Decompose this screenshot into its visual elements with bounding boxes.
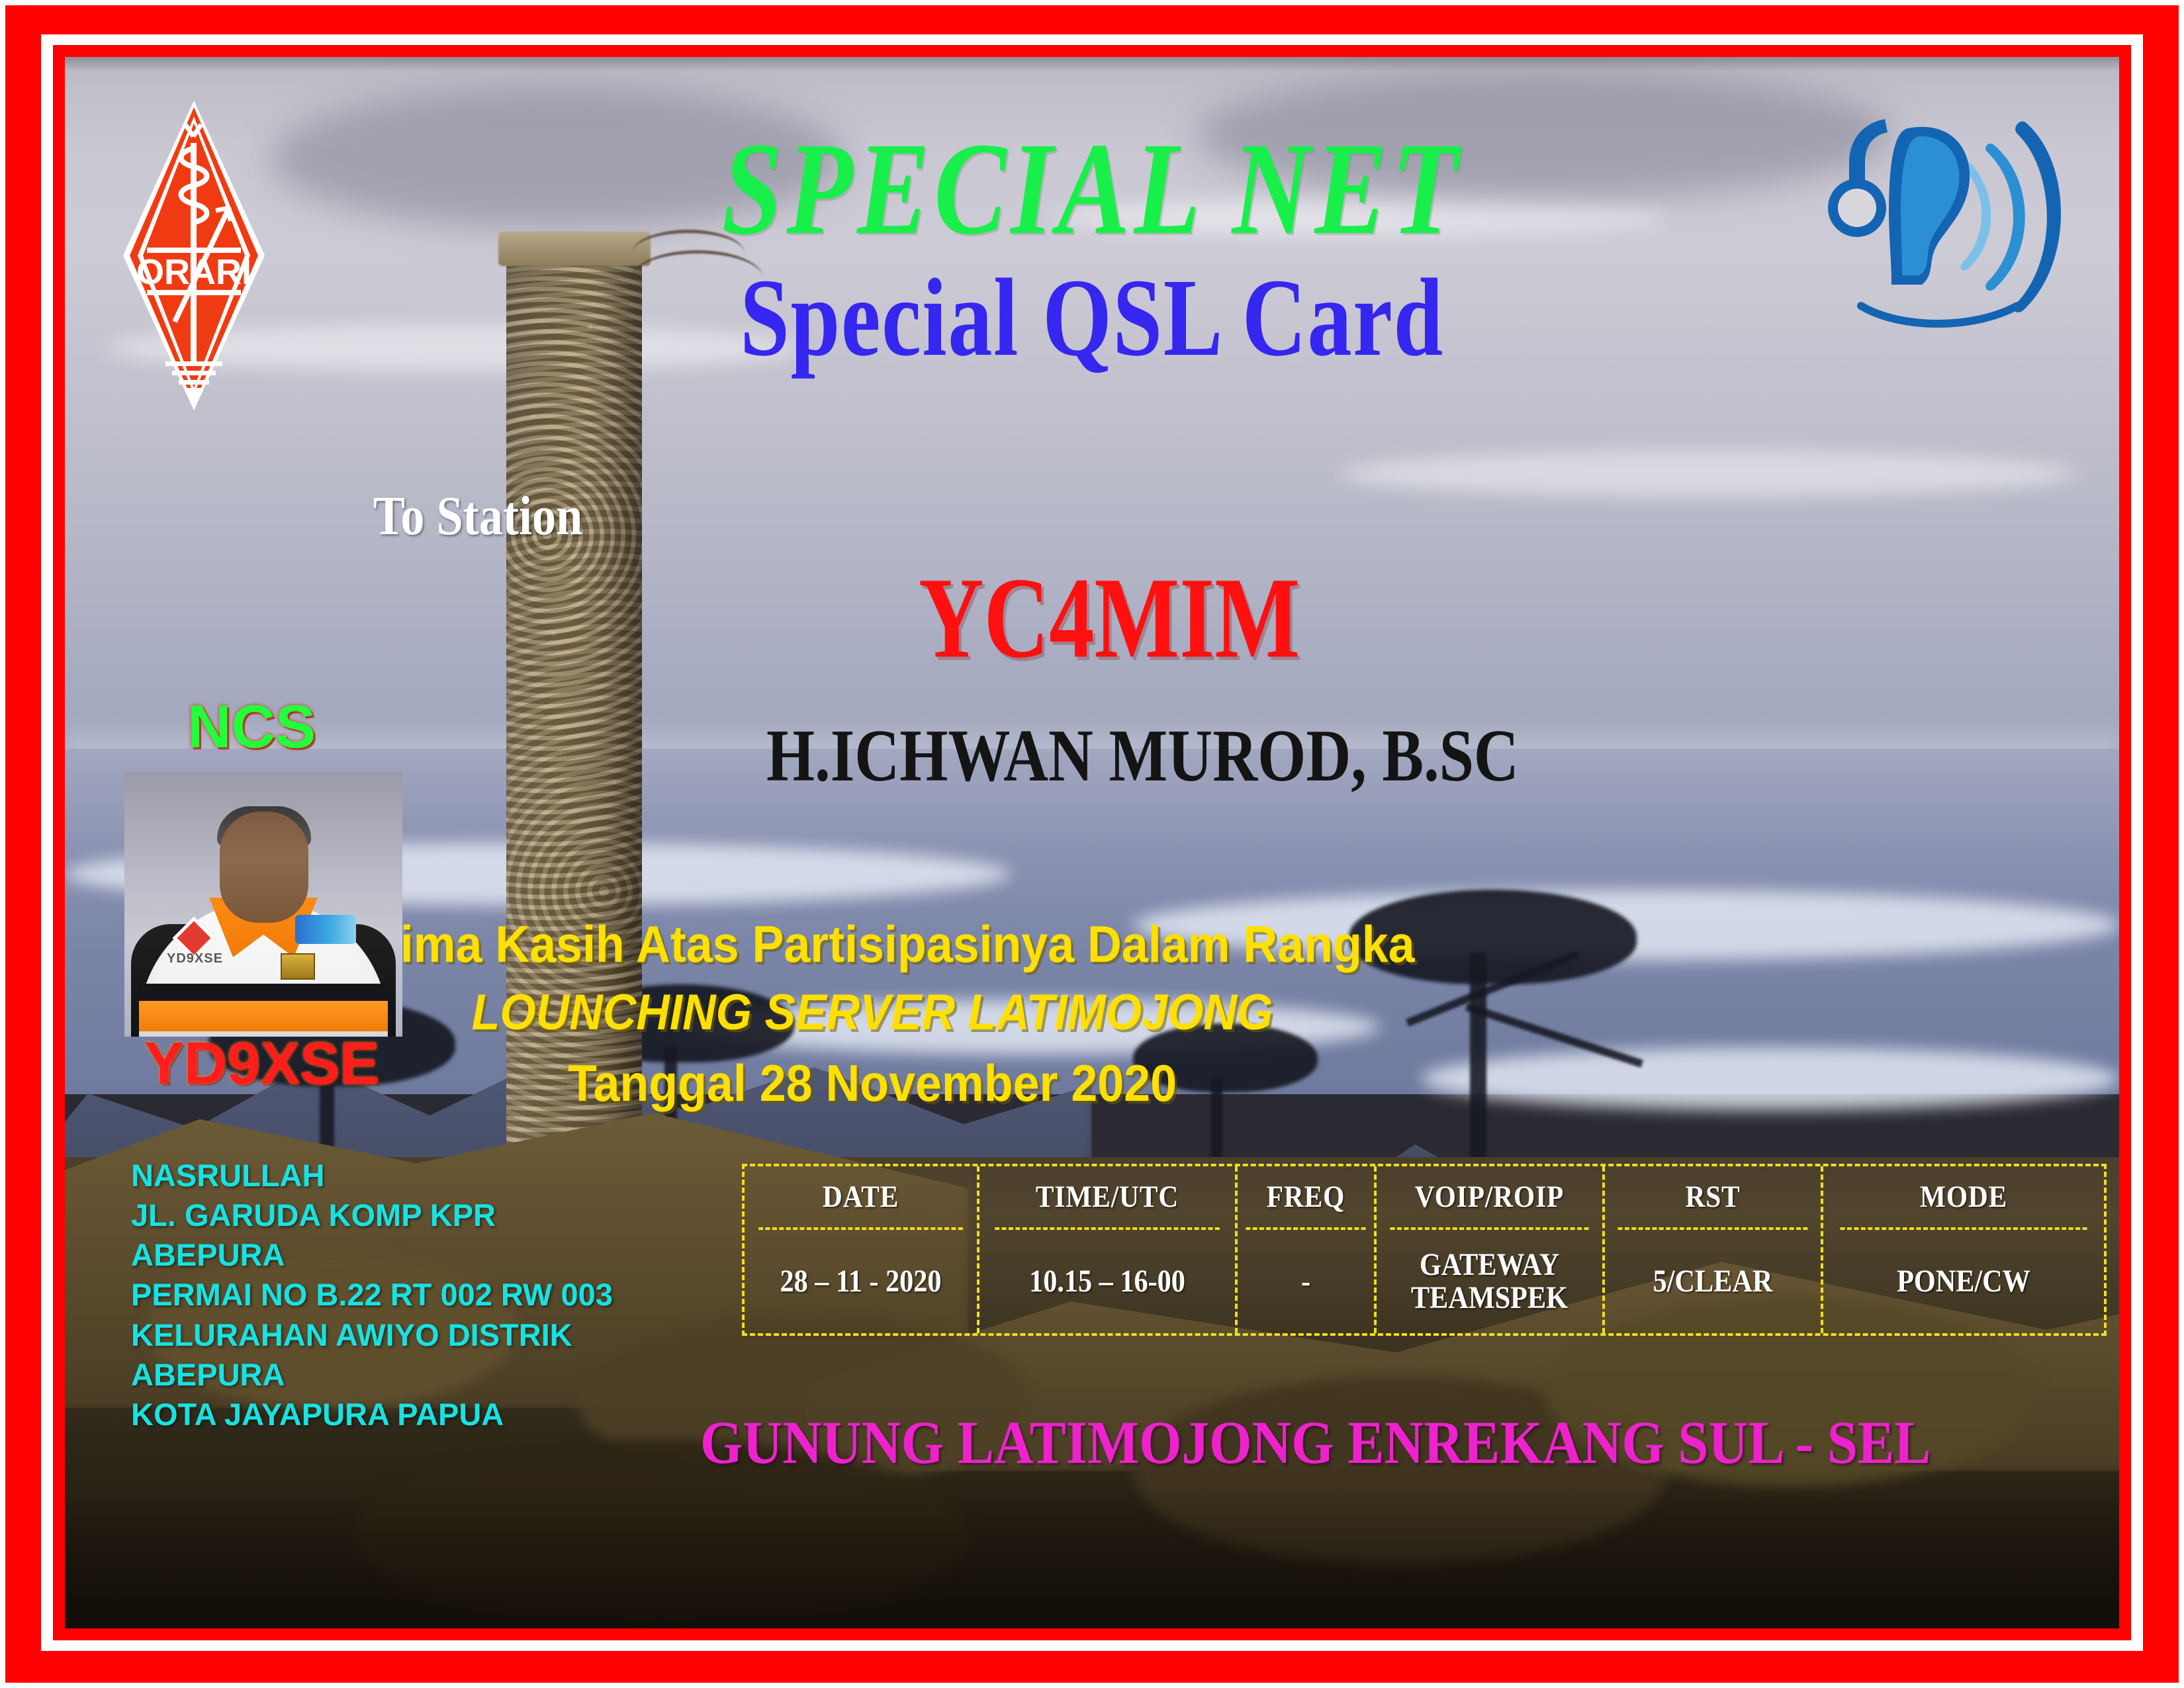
table-cell: 10.15 – 16-00	[995, 1230, 1220, 1333]
table-column-mode: MODE PONE/CW	[1823, 1166, 2104, 1333]
table-cell: GATEWAY TEAMSPEK	[1390, 1230, 1588, 1333]
ncs-label: NCS	[187, 692, 316, 762]
station-callsign: YC4MIM	[919, 560, 1486, 676]
event-date-line: Tanggal 28 November 2020	[172, 1053, 1572, 1113]
qso-log-table: DATE 28 – 11 - 2020 TIME/UTC 10.15 – 16-…	[742, 1164, 2107, 1336]
table-cell: -	[1246, 1230, 1365, 1333]
address-line: ABEPURA	[131, 1235, 700, 1275]
photo-shirt-orange-band	[139, 1001, 388, 1031]
address-line: KELURAHAN AWIYO DISTRIK	[131, 1315, 700, 1355]
address-line: JL. GARUDA KOMP KPR	[131, 1196, 700, 1235]
table-header-cell: VOIP/ROIP	[1390, 1166, 1588, 1230]
address-line: NASRULLAH	[131, 1156, 700, 1196]
location-line: GUNUNG LATIMOJONG ENREKANG SUL - SEL	[700, 1407, 1931, 1477]
photo-shirt-dark-band	[139, 984, 388, 1001]
page-title-special-net: SPECIAL NET	[250, 123, 1934, 256]
address-line: PERMAI NO B.22 RT 002 RW 003	[131, 1275, 700, 1315]
photo-id-badge	[281, 953, 315, 980]
table-header-cell: DATE	[758, 1166, 963, 1230]
table-header-cell: FREQ	[1246, 1166, 1365, 1230]
table-column-date: DATE 28 – 11 - 2020	[745, 1166, 979, 1333]
qsl-card: ORARI	[0, 0, 2184, 1688]
table-header-cell: MODE	[1840, 1166, 2087, 1230]
table-column-voip-roip: VOIP/ROIP GATEWAY TEAMSPEK	[1377, 1166, 1605, 1333]
table-cell: PONE/CW	[1840, 1230, 2087, 1333]
page-subtitle-special-qsl-card: Special QSL Card	[270, 262, 1913, 373]
photo-face	[220, 812, 308, 923]
to-station-label: To Station	[373, 484, 583, 548]
table-cell: 5/CLEAR	[1618, 1230, 1808, 1333]
table-header-cell: RST	[1618, 1166, 1808, 1230]
ncs-callsign: YD9XSE	[144, 1030, 379, 1098]
operator-name: H.ICHWAN MUROD, B.SC	[766, 719, 1600, 793]
card-photo-background: ORARI	[65, 57, 2119, 1628]
table-header-cell: TIME/UTC	[995, 1166, 1220, 1230]
mailing-address-block: NASRULLAH JL. GARUDA KOMP KPR ABEPURA PE…	[131, 1156, 700, 1434]
address-line: ABEPURA	[131, 1355, 700, 1395]
orari-logo-text: ORARI	[136, 252, 251, 292]
table-cell: 28 – 11 - 2020	[758, 1230, 963, 1333]
orari-logo-icon: ORARI	[118, 97, 270, 414]
photo-patch-logo-icon	[295, 915, 356, 944]
photo-patch-callsign: YD9XSE	[167, 951, 223, 966]
ncs-operator-photo: YD9XSE	[124, 772, 402, 1037]
table-column-rst: RST 5/CLEAR	[1605, 1166, 1823, 1333]
table-column-freq: FREQ -	[1238, 1166, 1377, 1333]
address-line: KOTA JAYAPURA PAPUA	[131, 1395, 700, 1434]
table-column-time: TIME/UTC 10.15 – 16-00	[979, 1166, 1238, 1333]
